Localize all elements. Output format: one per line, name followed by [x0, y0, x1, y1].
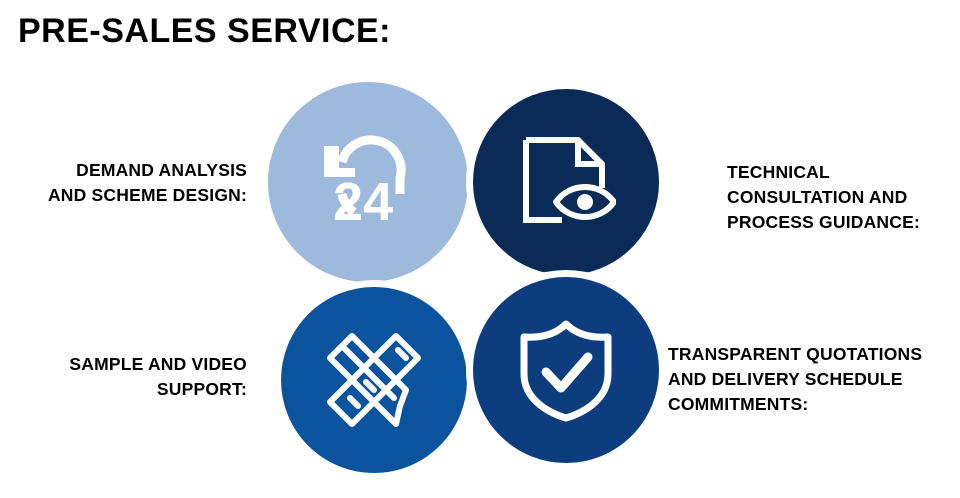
label-technical-consultation: TECHNICAL CONSULTATION AND PROCESS GUIDA… [727, 160, 959, 235]
circle-transparent-quotations[interactable] [466, 270, 666, 470]
circle-cluster: 24 [268, 82, 672, 486]
circle-demand-analysis[interactable]: 24 [268, 82, 468, 282]
shield-check-icon [518, 318, 614, 422]
icon-24-text: 24 [333, 172, 393, 232]
pencil-ruler-icon [322, 328, 426, 432]
circle-technical-consultation[interactable] [466, 82, 666, 282]
document-eye-icon [516, 132, 616, 232]
label-transparent-quotations: TRANSPARENT QUOTATIONS AND DELIVERY SCHE… [668, 342, 960, 417]
label-demand-analysis: DEMAND ANALYSIS AND SCHEME DESIGN: [0, 158, 247, 208]
label-sample-video-support: SAMPLE AND VIDEO SUPPORT: [0, 352, 247, 402]
infographic-canvas: PRE-SALES SERVICE: 24 [0, 0, 960, 498]
circle-sample-video-support[interactable] [274, 280, 474, 480]
clock-24-arrow-icon: 24 [315, 132, 421, 232]
page-title: PRE-SALES SERVICE: [18, 12, 391, 51]
